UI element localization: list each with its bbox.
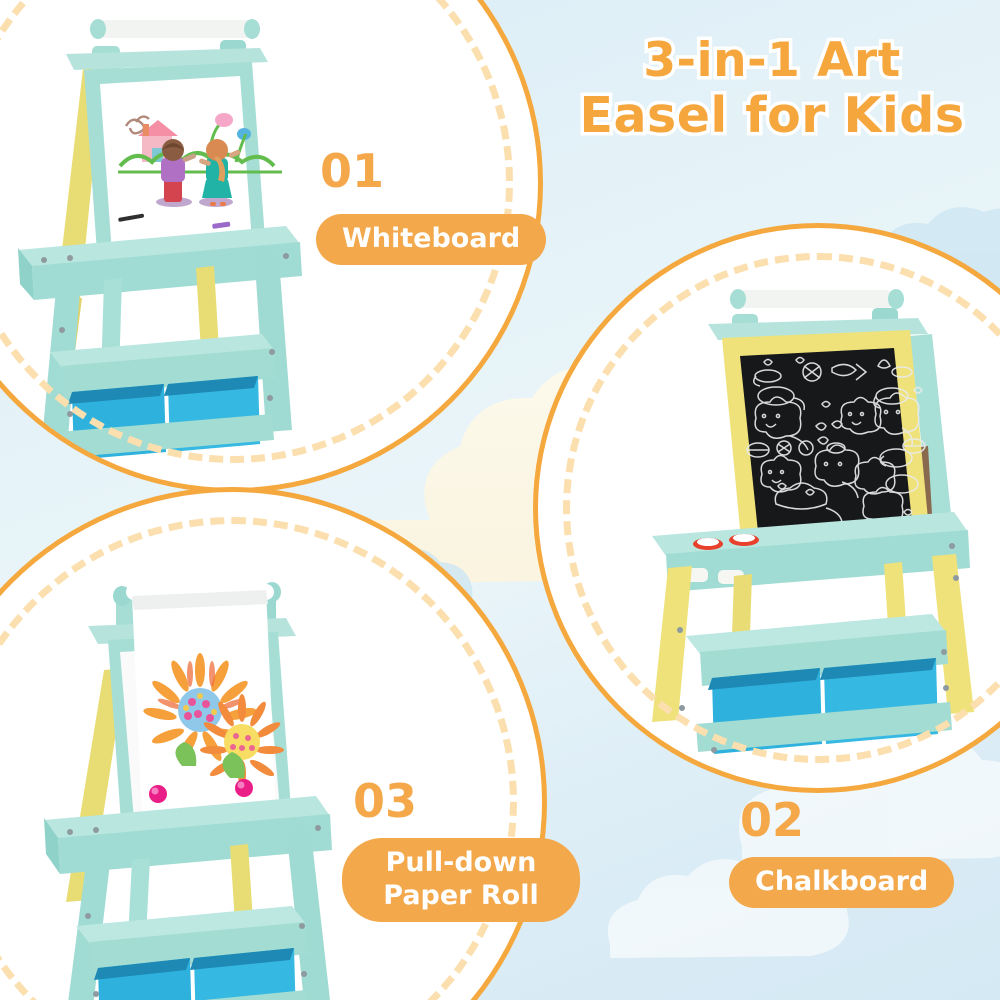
page-title: 3-in-1 Art Easel for Kids xyxy=(562,34,982,143)
feature-label-chalkboard[interactable]: Chalkboard xyxy=(729,857,954,908)
page-title-line2: Easel for Kids xyxy=(562,88,982,144)
feature-number-02: 02 xyxy=(740,797,804,843)
feature-label-paper-roll-line2: Paper Roll xyxy=(383,880,539,911)
infographic-canvas: 3-in-1 Art Easel for Kids 01 Whiteboard … xyxy=(0,0,1000,1000)
feature-label-paper-roll-line1: Pull-down xyxy=(386,847,537,878)
feature-label-paper-roll[interactable]: Pull-down Paper Roll xyxy=(342,838,580,922)
feature-number-03: 03 xyxy=(353,778,417,824)
page-title-line1: 3-in-1 Art xyxy=(562,34,982,88)
feature-label-whiteboard[interactable]: Whiteboard xyxy=(316,214,546,265)
feature-number-01: 01 xyxy=(320,148,384,194)
